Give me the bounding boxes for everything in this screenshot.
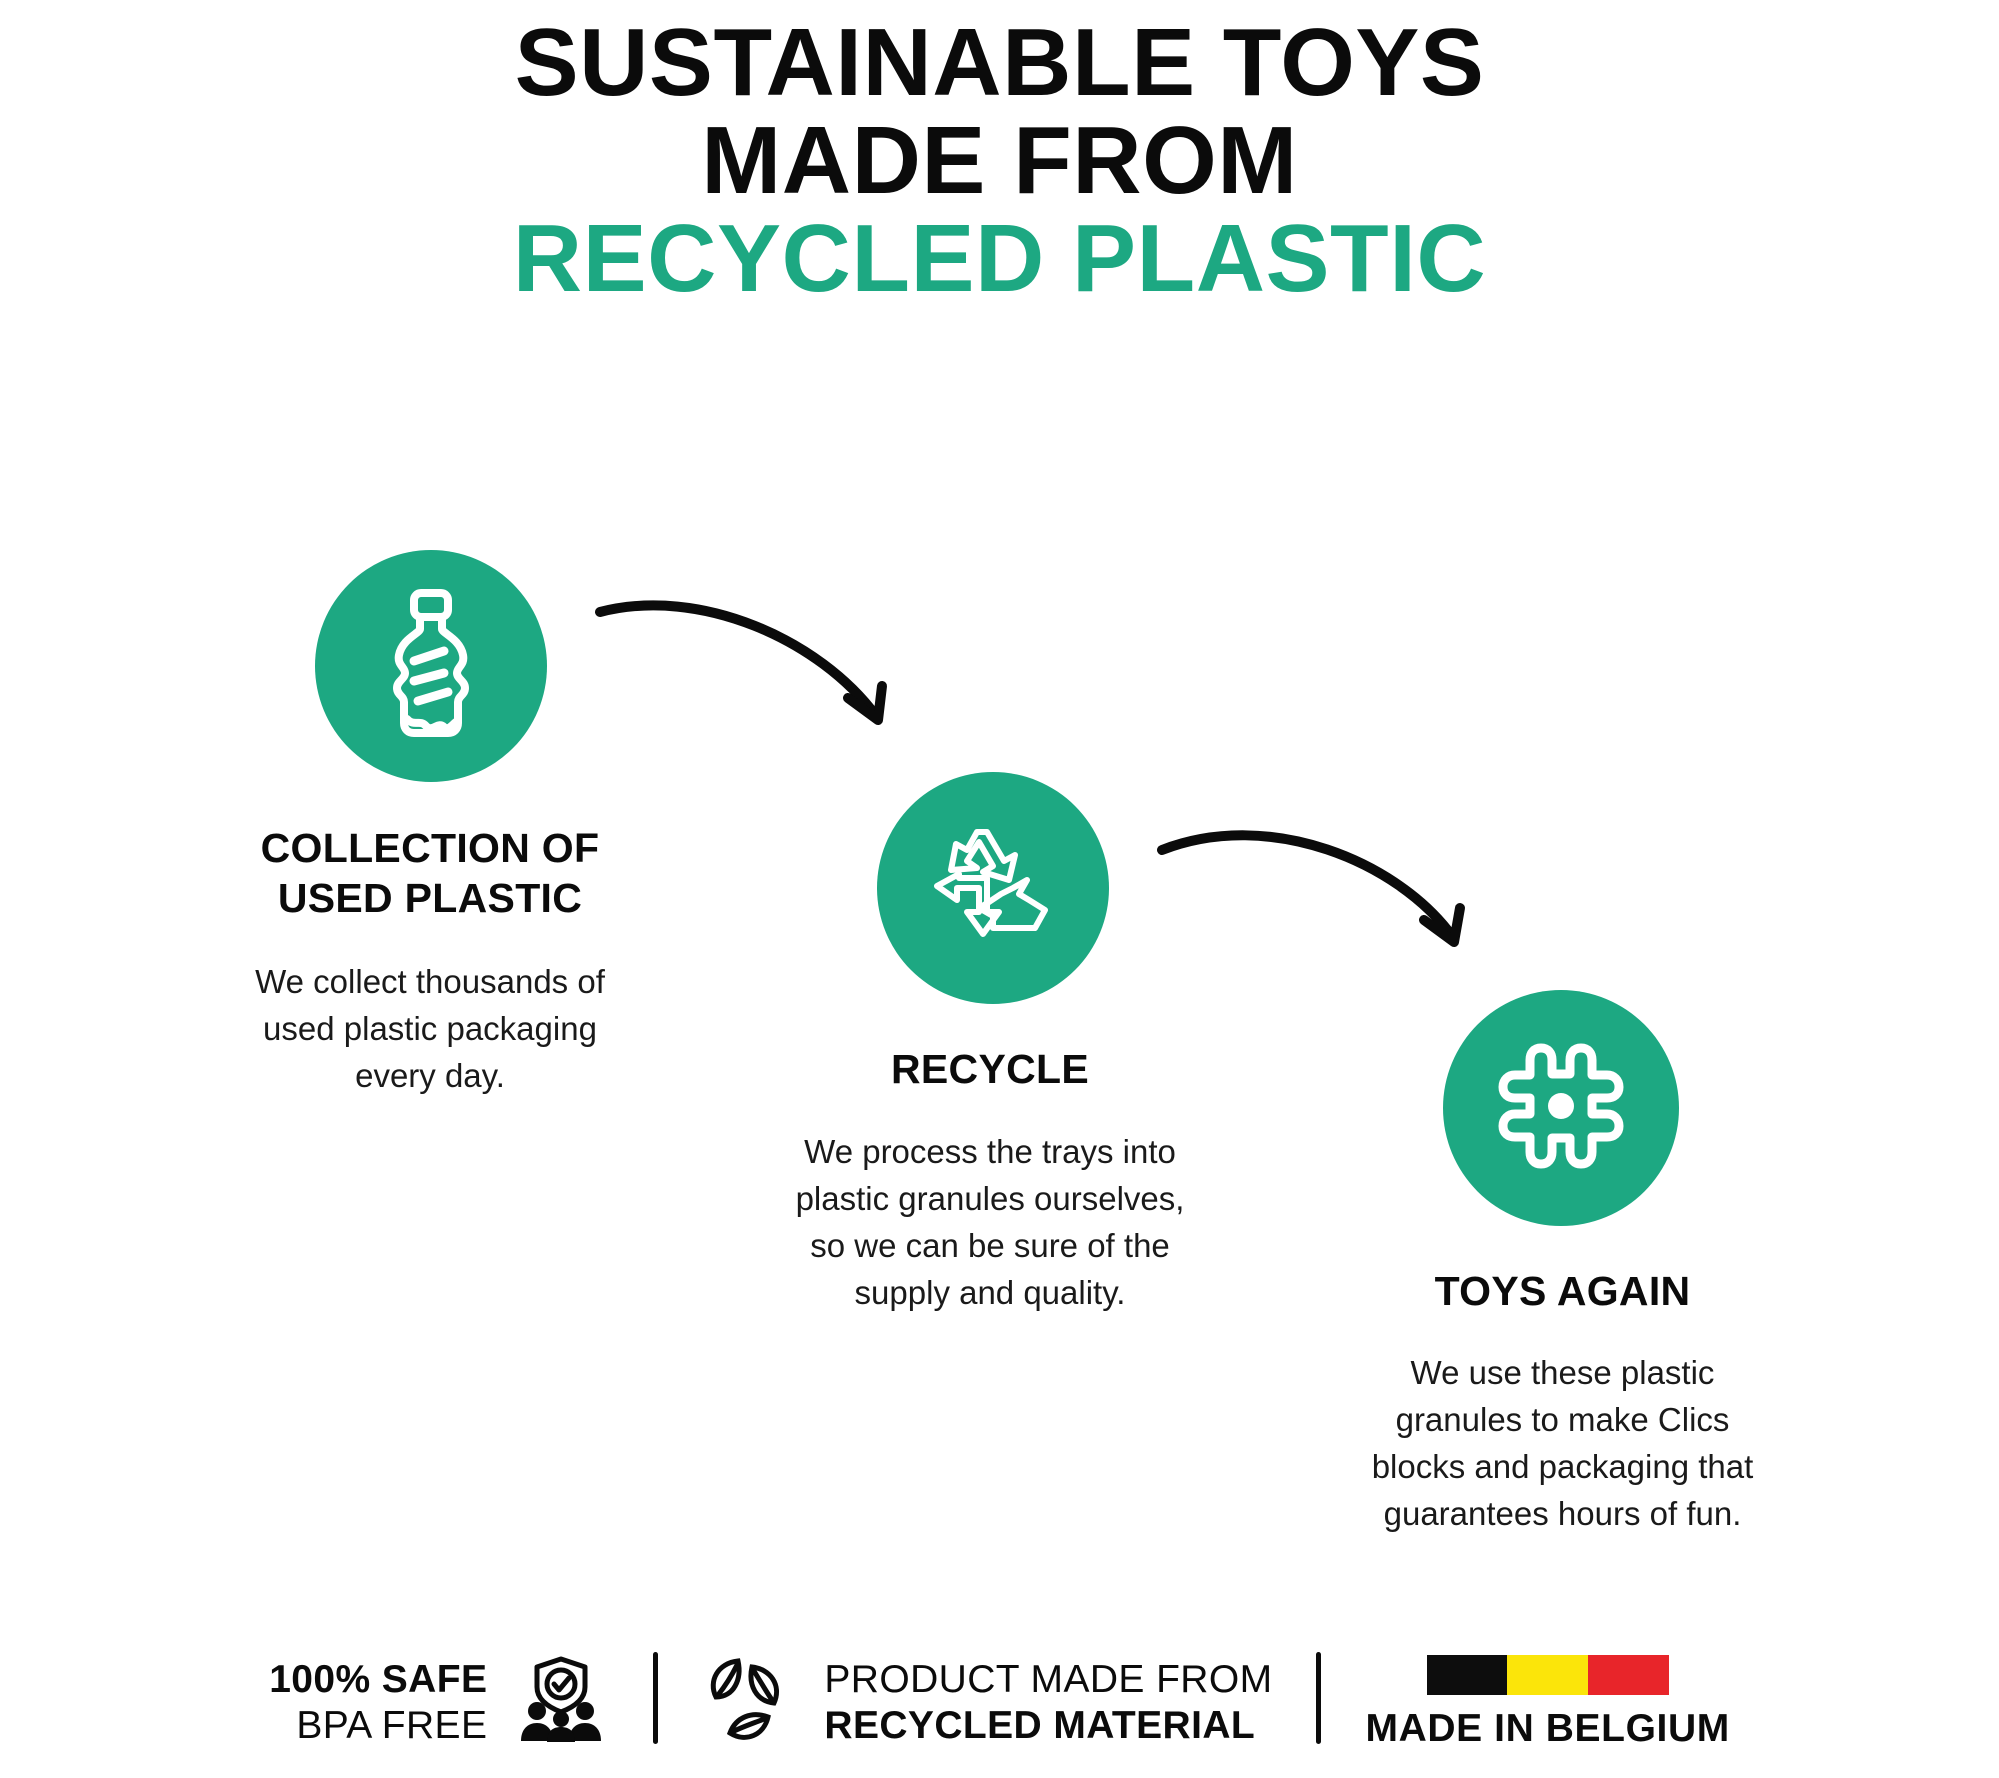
step-3-body-line-4: guarantees hours of fun. xyxy=(1050,1491,1999,1538)
plastic-bottle-icon xyxy=(372,589,490,744)
title-line-1: SUSTAINABLE TOYS xyxy=(0,14,1999,112)
step-3-heading: TOYS AGAIN xyxy=(1050,1266,1999,1316)
badge-recycled-material-text: PRODUCT MADE FROM RECYCLED MATERIAL xyxy=(824,1657,1272,1749)
flag-stripe-yellow xyxy=(1507,1655,1588,1695)
badge-made-in-belgium-label: MADE IN BELGIUM xyxy=(1365,1707,1729,1751)
flag-stripe-black xyxy=(1427,1655,1508,1695)
three-leaves-icon xyxy=(702,1653,798,1754)
infographic-page: SUSTAINABLE TOYS MADE FROM RECYCLED PLAS… xyxy=(0,0,1999,1778)
step-3-body-line-3: blocks and packaging that xyxy=(1050,1444,1999,1491)
badge-bpa-free: 100% SAFE BPA FREE xyxy=(269,1648,609,1758)
shield-check-family-icon xyxy=(513,1653,609,1754)
badge-made-in-belgium: MADE IN BELGIUM xyxy=(1365,1648,1729,1758)
badge-made-in-belgium-content: MADE IN BELGIUM xyxy=(1365,1655,1729,1751)
step-toys-again: TOYS AGAIN We use these plastic granules… xyxy=(1050,990,1999,1537)
title-line-2: MADE FROM xyxy=(0,112,1999,210)
badge-recycled-material-line-1: PRODUCT MADE FROM xyxy=(824,1657,1272,1703)
step-1-icon-circle xyxy=(315,550,547,782)
badge-bpa-free-line-1: 100% SAFE xyxy=(269,1657,487,1703)
flag-stripe-red xyxy=(1588,1655,1669,1695)
step-3-icon-circle xyxy=(1443,990,1679,1226)
clics-block-icon xyxy=(1497,1042,1625,1175)
page-title: SUSTAINABLE TOYS MADE FROM RECYCLED PLAS… xyxy=(0,14,1999,308)
badge-recycled-material-line-2: RECYCLED MATERIAL xyxy=(824,1703,1272,1749)
step-3-body-line-2: granules to make Clics xyxy=(1050,1397,1999,1444)
step-3-body: We use these plastic granules to make Cl… xyxy=(1050,1350,1999,1537)
footer-divider-1 xyxy=(653,1652,658,1744)
badge-bpa-free-line-2: BPA FREE xyxy=(269,1703,487,1749)
step-3-heading-line-1: TOYS AGAIN xyxy=(1050,1266,1999,1316)
title-line-3-accent: RECYCLED PLASTIC xyxy=(0,210,1999,308)
footer-badges: 100% SAFE BPA FREE xyxy=(0,1648,1999,1778)
step-3-body-line-1: We use these plastic xyxy=(1050,1350,1999,1397)
badge-recycled-material: PRODUCT MADE FROM RECYCLED MATERIAL xyxy=(702,1648,1272,1758)
belgium-flag-icon xyxy=(1427,1655,1669,1695)
badge-bpa-free-text: 100% SAFE BPA FREE xyxy=(269,1657,487,1749)
footer-divider-2 xyxy=(1316,1652,1321,1744)
recycle-arrows-icon xyxy=(923,816,1063,961)
step-2-icon-circle xyxy=(877,772,1109,1004)
